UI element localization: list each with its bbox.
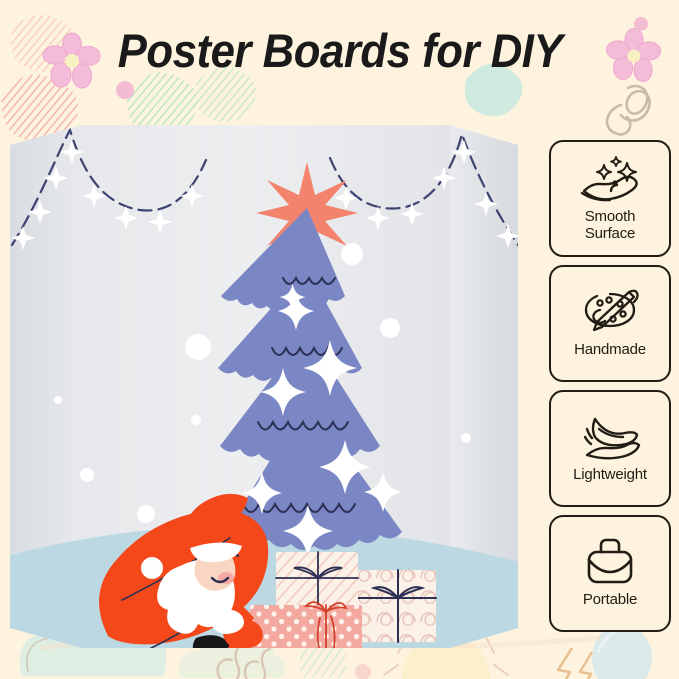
product-infographic: Poster Boards for DIY [0,0,679,679]
feature-badge-handmade[interactable]: Handmade [549,265,671,382]
feature-badge-list: Smooth Surface Handmade [549,140,671,632]
gift-box [276,552,358,608]
feature-badge-label: Handmade [574,342,646,359]
balloon-doodle [592,624,652,679]
page-title-text: Poster Boards for DIY [117,23,561,78]
feature-label-line1: Smooth [585,208,636,225]
belt-buckle [171,653,193,655]
feature-label-line1: Lightweight [573,466,647,483]
feature-badge-lightweight[interactable]: Lightweight [549,390,671,507]
gift-box [250,602,362,655]
sparkle-hand-icon [579,153,641,205]
gift-box [358,570,436,642]
feature-badge-label: Lightweight [573,467,647,484]
paint-palette-icon [580,286,640,338]
feature-badge-label: Portable [583,592,637,609]
feature-label-line1: Portable [583,591,637,608]
feature-badge-label: Smooth Surface [585,209,636,243]
page-title: Poster Boards for DIY [0,0,679,100]
feature-badge-portable[interactable]: Portable [549,515,671,632]
poster-board-illustration [0,100,530,655]
briefcase-icon [583,536,637,588]
feature-label-line1: Handmade [574,341,646,358]
feature-badge-smooth-surface[interactable]: Smooth Surface [549,140,671,257]
feature-label-line2: Surface [585,226,636,243]
feather-hand-icon [579,411,641,463]
lightning-doodle [558,648,592,679]
